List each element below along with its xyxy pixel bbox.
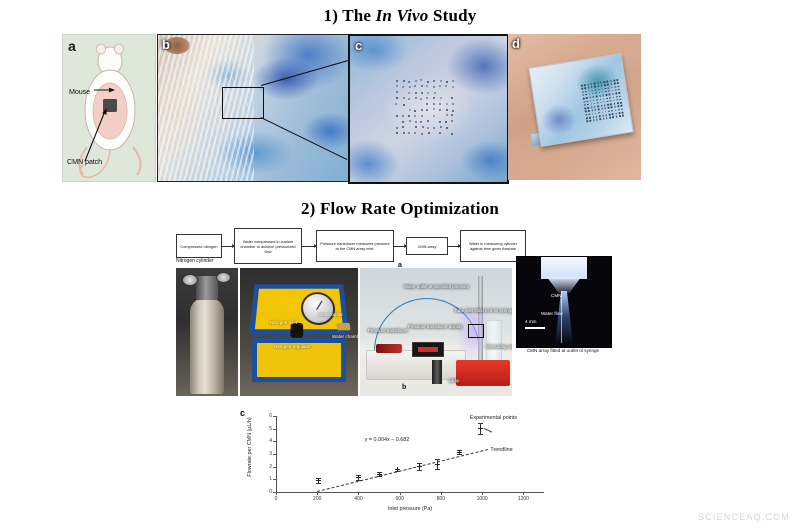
label-measuring-cylinder: Measuring cylinder (486, 344, 512, 349)
panel-c-letter: c (355, 38, 362, 53)
flow-box-1: Compressed nitrogen (176, 234, 222, 258)
label-nitrogen-regulator: Nitrogen regulator (274, 344, 311, 349)
section-1-text-after: Study (429, 6, 477, 25)
label-transducer-display: Pressure transducer display (408, 324, 446, 329)
zoom-region-box (222, 87, 264, 119)
inset-region-box (468, 324, 484, 338)
cylinder-gauge-left-icon (182, 274, 198, 286)
y-tick-mark (273, 467, 276, 468)
label-lamp: Lamp (444, 378, 464, 383)
cmn-patch-body (528, 53, 633, 147)
label-nitrogen-cylinder: Nitrogen cylinder (176, 258, 214, 264)
x-tick-label: 600 (388, 496, 412, 502)
label-tube-inlet-syringe: Tube inlet fitted to 5 ml syringe (454, 308, 492, 313)
panel-a-mouse-schematic: a Mouse CMN patch (62, 34, 156, 182)
flow-arrow-3 (394, 246, 406, 247)
x-tick-label: 400 (346, 496, 370, 502)
flow-box-2: Water compressed in custom chamber to ac… (234, 228, 302, 264)
syringe-outlet-plate (541, 257, 587, 279)
section-1-number: 1) (324, 6, 339, 25)
panel-d-letter: d (512, 36, 520, 51)
y-tick-label: 5 (258, 426, 272, 432)
panel-a-letter: a (68, 38, 76, 54)
x-tick-mark (523, 492, 524, 495)
label-water-chamber: Water chamber (332, 334, 358, 339)
puncture-dot-grid (396, 80, 458, 138)
y-tick-label: 1 (258, 476, 272, 482)
label-water-flow: Water flow (541, 311, 563, 316)
y-axis-label: Flowrate per CMN (µL/h) (247, 409, 253, 485)
flowchart: Compressed nitrogen Water compressed in … (176, 228, 526, 264)
y-tick-mark (273, 429, 276, 430)
chamber-top-face (249, 284, 349, 334)
chart-panel-letter: c (240, 408, 245, 418)
flow-arrow-4 (448, 246, 460, 247)
flow-box-3: Pressure transducer measures pressure at… (316, 230, 394, 262)
photo-water-chamber: Nitrogen inlet Water outlet Nitrogen reg… (240, 268, 358, 396)
label-cmn: CMN (551, 293, 561, 298)
y-tick-mark (273, 416, 276, 417)
y-tick-mark (273, 441, 276, 442)
panel-d-cmn-patch-photo: d (508, 34, 641, 180)
figure-page: 1) The In Vivo Study a Mouse CMN patch (0, 0, 800, 530)
label-scale-value: 4 mm (525, 319, 536, 324)
x-tick-mark (482, 492, 483, 495)
panel-c-microneedle-array-zoom: c (348, 34, 509, 184)
pressure-transducer-device (376, 344, 402, 353)
x-tick-mark (317, 492, 318, 495)
label-nitrogen-inlet: Nitrogen inlet (270, 320, 297, 325)
x-tick-mark (276, 492, 277, 495)
section-1-title: 1) The In Vivo Study (0, 6, 800, 26)
photo-nitrogen-cylinder (176, 268, 238, 396)
section-1-text-before: The (342, 6, 375, 25)
lamp-device (432, 360, 442, 384)
pressure-gauge-icon (301, 292, 337, 325)
dye-stain-blue (540, 102, 578, 137)
y-tick-label: 3 (258, 451, 272, 457)
label-pressure-transducer: Pressure transducer (368, 328, 402, 333)
x-tick-label: 200 (305, 496, 329, 502)
cylinder-gauge-right-icon (216, 272, 231, 283)
annotation-mouse: Mouse (69, 87, 90, 96)
annotation-trendline: Trendline (490, 447, 512, 453)
annotation-cmn-patch: CMN patch (67, 157, 102, 166)
cylinder-valve (196, 276, 218, 300)
section-2-title: 2) Flow Rate Optimization (0, 199, 800, 219)
gas-cylinder (190, 298, 224, 394)
x-tick-label: 0 (264, 496, 288, 502)
watermark: SCIENCEAQ.COM (698, 512, 790, 522)
y-tick-label: 0 (258, 489, 272, 495)
chart-flowrate-vs-pressure: c Inlet pressure (Pa) Flowrate per CMN (… (238, 408, 570, 520)
x-axis-label: Inlet pressure (Pa) (276, 506, 544, 512)
x-tick-mark (400, 492, 401, 495)
x-axis-line (276, 492, 544, 493)
y-tick-label: 6 (258, 413, 272, 419)
x-tick-label: 1200 (511, 496, 535, 502)
annotation-experimental-points: Experimental points (470, 415, 517, 421)
y-tick-mark (273, 454, 276, 455)
section-1-italic: In Vivo (376, 6, 429, 25)
bench-panel-letter: b (402, 384, 406, 391)
caption-cmn-array-inset: CMN array fitted at outlet of syringe (516, 348, 610, 354)
x-tick-label: 800 (429, 496, 453, 502)
y-tick-label: 4 (258, 438, 272, 444)
flow-arrow-2 (302, 246, 316, 247)
panel-b-dyed-skin: b (157, 34, 349, 182)
flow-box-4: CMN array (406, 237, 448, 255)
y-tick-label: 2 (258, 464, 272, 470)
transducer-display-device (412, 342, 444, 357)
trendline-equation: y = 0.004x − 0.682 (365, 437, 410, 443)
scale-bar (525, 327, 545, 329)
x-tick-label: 1000 (470, 496, 494, 502)
flow-arrow-1 (222, 246, 234, 247)
label-water-outlet: Water outlet (318, 312, 343, 317)
photo-cmn-waterflow-inset: CMN Water flow 4 mm (516, 256, 612, 348)
microneedle-grid (581, 79, 627, 125)
photo-bench-setup: Water outlet at specified pressure Press… (360, 268, 512, 396)
panel-b-letter: b (162, 37, 170, 52)
label-water-outlet-pressure: Water outlet at specified pressure (404, 284, 456, 289)
water-outlet-nozzle (336, 323, 350, 330)
y-tick-mark (273, 479, 276, 480)
red-tray (456, 360, 510, 386)
x-tick-mark (358, 492, 359, 495)
x-tick-mark (441, 492, 442, 495)
